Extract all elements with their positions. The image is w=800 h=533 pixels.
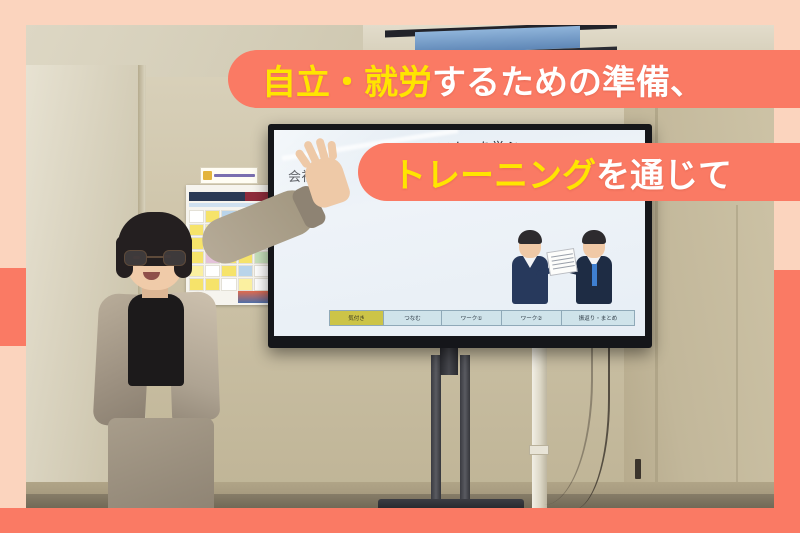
eyeglasses-bridge xyxy=(147,256,163,258)
poster-logo-icon xyxy=(203,171,212,180)
presenter-inner-top xyxy=(128,294,184,386)
slide-tab-1[interactable]: つなむ xyxy=(384,311,442,325)
slide-tab-3[interactable]: ワーク② xyxy=(502,311,562,325)
slide-tab-strip: 気付き つなむ ワーク① ワーク② 振返り・まとめ xyxy=(329,310,635,326)
screenshot-root: …マナーを学ぶ。 会社で xyxy=(0,0,800,533)
frame-edge-left xyxy=(0,0,26,533)
eyeglasses-lens-left xyxy=(124,250,147,266)
illustration-document-icon xyxy=(546,248,577,276)
headline-banner-2: トレーニングを通じて xyxy=(358,143,800,201)
frame-edge-top xyxy=(0,0,800,25)
slide-tab-4[interactable]: 振返り・まとめ xyxy=(562,311,634,325)
wall-seam-left xyxy=(655,77,658,508)
eyeglasses-lens-right xyxy=(163,250,186,266)
slide-illustration xyxy=(506,216,622,308)
tv-stand-base xyxy=(378,499,524,508)
frame-accent-left xyxy=(0,268,26,346)
eyeglasses-icon xyxy=(124,250,186,266)
poster-title-bar xyxy=(214,174,255,177)
wall-seam-right xyxy=(736,205,738,508)
frame-edge-bottom xyxy=(0,508,800,533)
wall-outlet xyxy=(635,459,641,479)
illustration-person-left-hair xyxy=(518,230,542,244)
headline-banner-1: 自立・就労するための準備、 xyxy=(228,50,800,108)
illustration-person-right-tie xyxy=(592,264,597,286)
tv-stand-column-right xyxy=(460,355,470,508)
presenter-lower-body xyxy=(108,418,214,508)
headline-banner-2-rest: を通じて xyxy=(596,148,732,197)
frame-accent-right xyxy=(774,270,800,533)
presenter xyxy=(86,210,346,508)
headline-banner-1-rest: するための準備、 xyxy=(432,55,704,104)
tv-stand-column-left xyxy=(431,355,441,508)
poster-header-label xyxy=(200,167,258,184)
poster-title-band xyxy=(189,192,269,201)
illustration-person-right-hair xyxy=(582,230,606,244)
headline-banner-2-highlight: トレーニング xyxy=(392,148,596,197)
tv-stand-neck xyxy=(440,347,458,375)
slide-tab-2[interactable]: ワーク① xyxy=(442,311,502,325)
headline-banner-1-highlight: 自立・就労 xyxy=(262,55,432,104)
